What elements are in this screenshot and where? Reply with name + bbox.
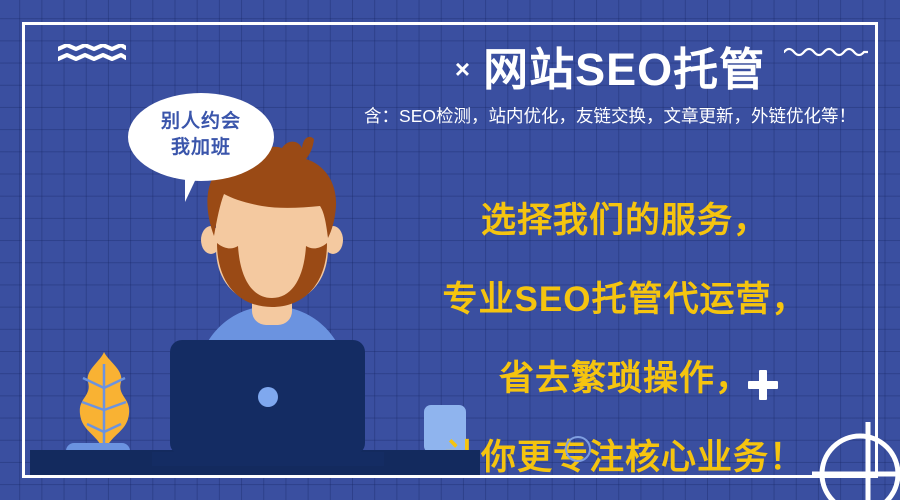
potted-leaf-plant-icon [52,348,157,458]
laptop-logo-dot [258,387,278,407]
bubble-line-1: 别人约会 [128,109,274,135]
small-ring-icon [565,436,591,462]
speech-bubble: 别人约会 我加班 [128,93,274,181]
copy-line-2: 专业SEO托管代运营， [400,271,850,322]
copy-line-1: 选择我们的服务， [400,192,850,243]
mouth-shape [244,263,300,281]
speech-bubble-text: 别人约会 我加班 [128,109,274,160]
bubble-line-2: 我加班 [128,135,274,161]
seo-banner: ×网站SEO托管 含：SEO检测，站内优化，友链交换，文章更新，外链优化等！ 选… [0,0,900,500]
copy-line-3: 省去繁琐操作， [400,350,850,401]
laptop-base [152,452,384,466]
